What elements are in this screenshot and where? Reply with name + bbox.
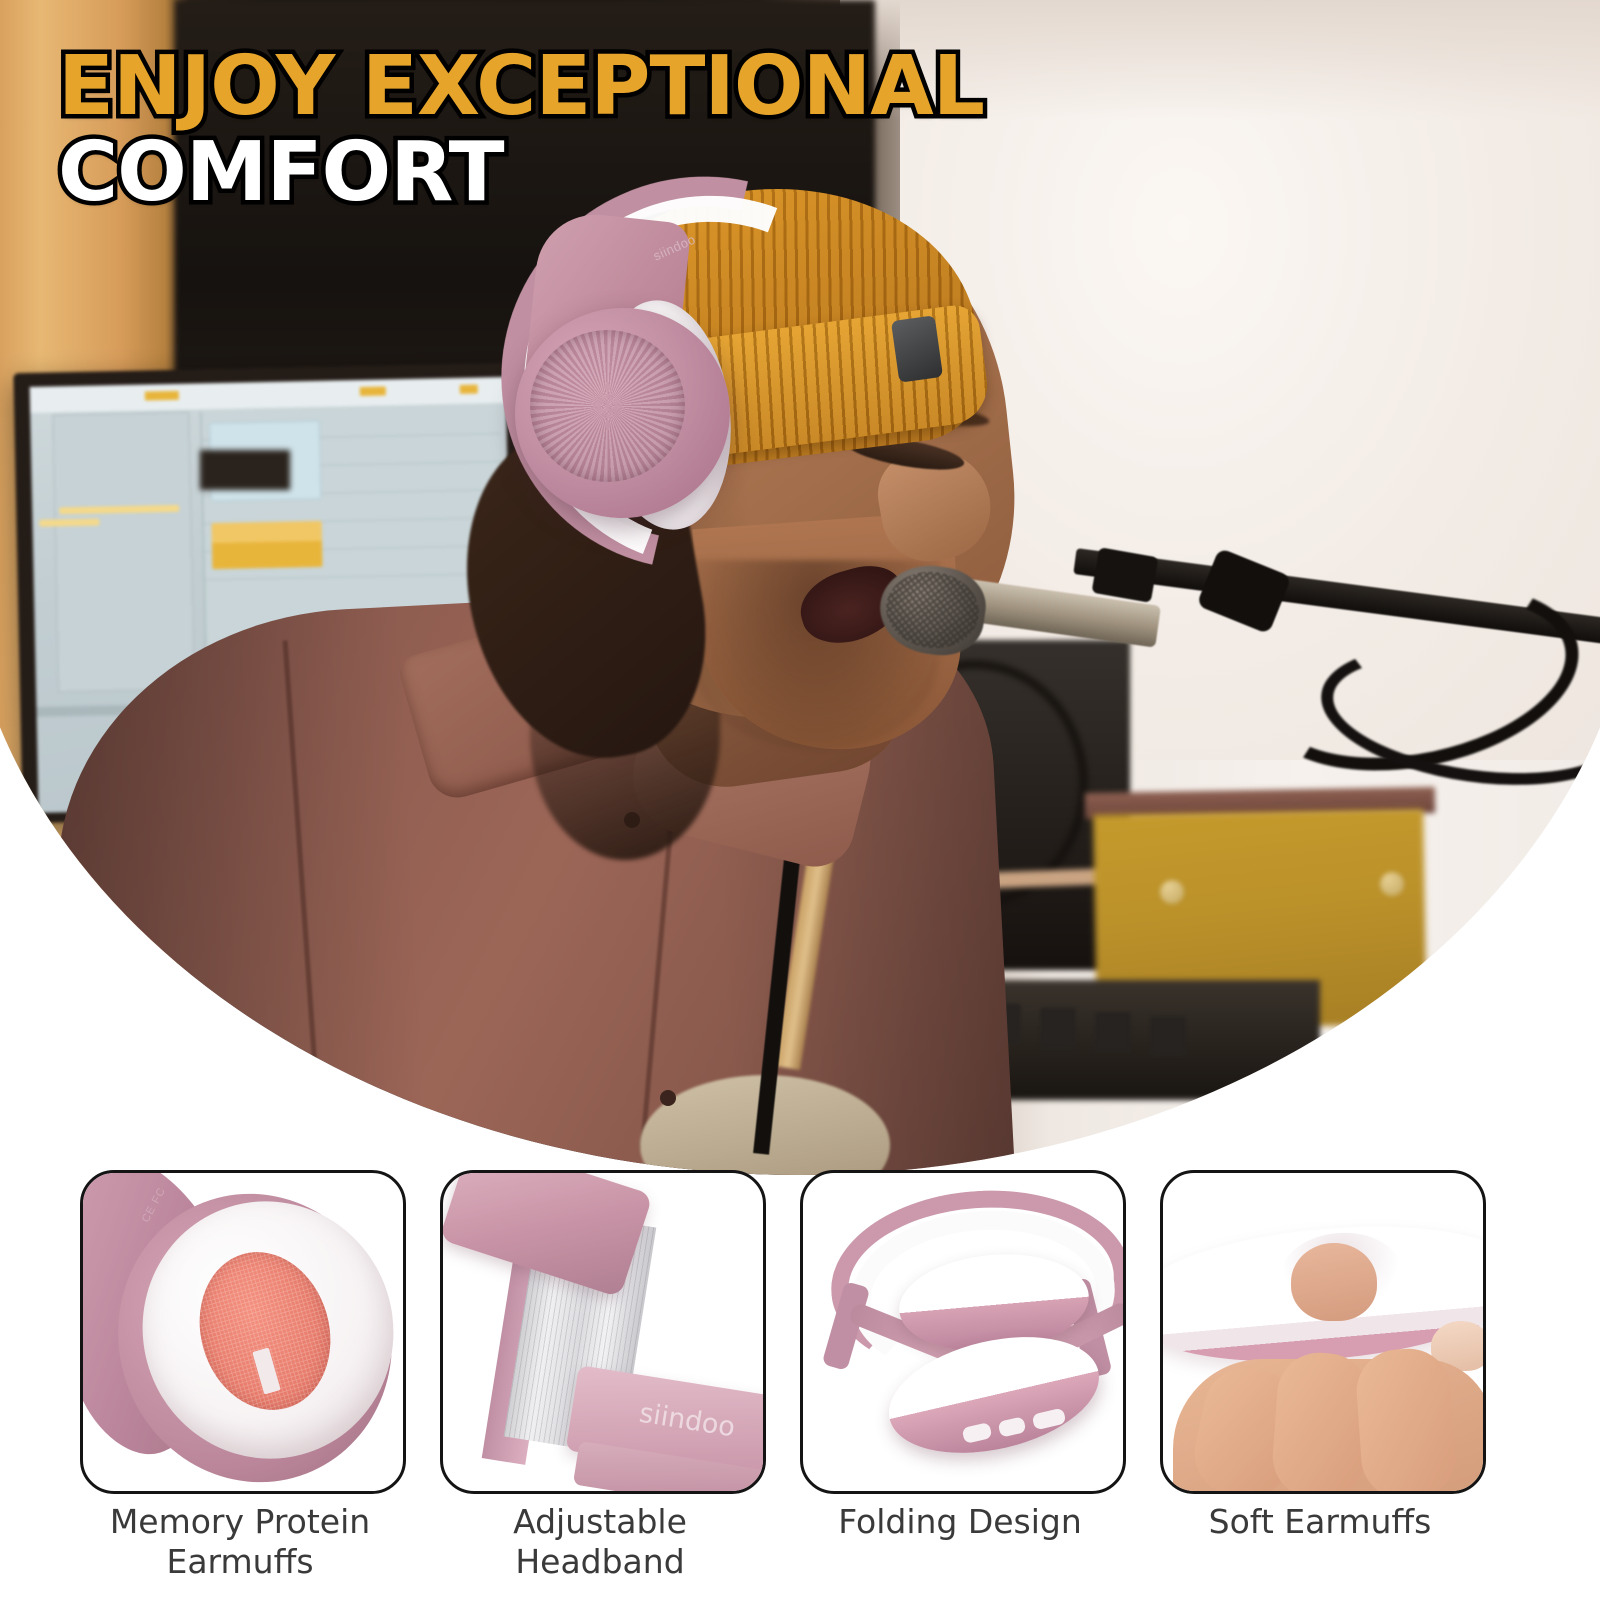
- product-feature-page: siindoo ENJOY EXCEPTIONAL COMFORT: [0, 0, 1600, 1600]
- earcup-brushed-disc: [530, 330, 685, 482]
- headline-line-1: ENJOY EXCEPTIONAL: [58, 48, 984, 127]
- feature-caption-folding-design: Folding Design: [800, 1502, 1120, 1542]
- caption-line-2: Headband: [440, 1542, 760, 1582]
- caption-line-1: Soft Earmuffs: [1160, 1502, 1480, 1542]
- feature-card-adjustable-headband[interactable]: siindoo: [440, 1170, 766, 1494]
- daw-browser-panel: [52, 412, 195, 693]
- feature-caption-memory-protein-earmuffs: Memory Protein Earmuffs: [80, 1502, 400, 1583]
- caption-line-1: Memory Protein: [80, 1502, 400, 1542]
- thumb-pressing: [1291, 1243, 1377, 1321]
- caption-line-1: Adjustable: [440, 1502, 760, 1542]
- headline-block: ENJOY EXCEPTIONAL COMFORT: [58, 48, 984, 219]
- feature-cards-row: CE FC Memory Protein Earmuffs siindoo Ad…: [0, 1170, 1600, 1600]
- feature-card-folding-design[interactable]: [800, 1170, 1126, 1494]
- feature-caption-soft-earmuffs: Soft Earmuffs: [1160, 1502, 1480, 1542]
- feature-card-soft-earmuffs[interactable]: [1160, 1170, 1486, 1494]
- headline-line-2: COMFORT: [58, 127, 984, 219]
- monitor-stand: [200, 450, 290, 490]
- feature-card-memory-protein-earmuffs[interactable]: CE FC: [80, 1170, 406, 1494]
- caption-line-2: Earmuffs: [80, 1542, 400, 1582]
- feature-caption-adjustable-headband: Adjustable Headband: [440, 1502, 760, 1583]
- hero-section: siindoo ENJOY EXCEPTIONAL COMFORT: [0, 0, 1600, 1175]
- caption-line-1: Folding Design: [800, 1502, 1120, 1542]
